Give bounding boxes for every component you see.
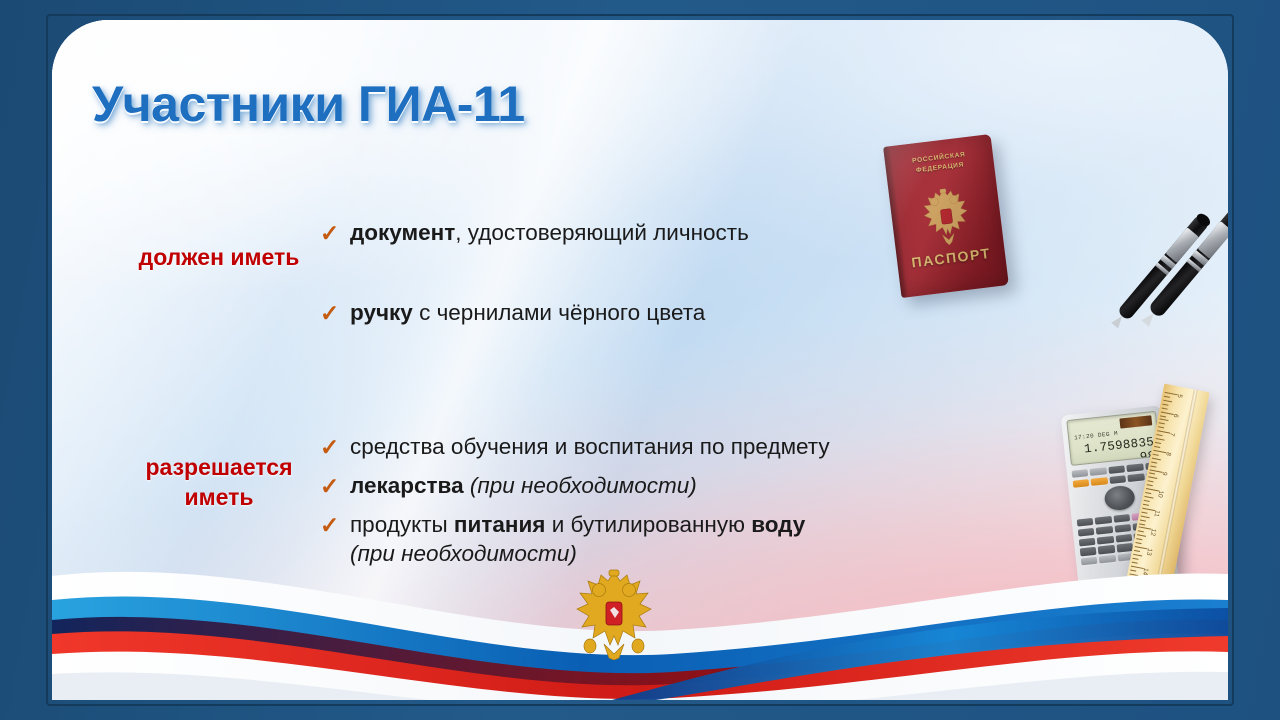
- ruler-tick: [1153, 454, 1159, 456]
- ruler-tick: [1140, 519, 1146, 521]
- ruler-tick: [1163, 400, 1172, 403]
- ruler-tick: [1147, 480, 1153, 482]
- ruler-tick: [1144, 500, 1150, 502]
- list-item-part2: и бутилированную: [545, 512, 751, 537]
- list-item-bold2: воду: [751, 512, 805, 537]
- calculator-key: [1096, 526, 1113, 535]
- ruler-tick-label: 5: [1176, 394, 1184, 399]
- calculator-key: [1128, 473, 1145, 482]
- ruler-tick: [1159, 423, 1165, 425]
- calculator-dpad: [1104, 484, 1136, 511]
- slide-canvas: Участники ГИА-11 должен иметь ✓ документ…: [52, 20, 1228, 700]
- ruler-tick-label: 7: [1168, 432, 1176, 437]
- calculator-key: [1091, 477, 1108, 486]
- ruler-tick: [1147, 484, 1153, 486]
- calculator-key: [1090, 467, 1107, 476]
- ruler-tick: [1148, 477, 1157, 480]
- check-icon: ✓: [320, 219, 350, 249]
- ruler-tick-label: 10: [1156, 490, 1164, 498]
- ruler-tick: [1162, 403, 1168, 405]
- calculator-key: [1072, 469, 1089, 478]
- calculator-key: [1079, 537, 1096, 546]
- ruler-tick: [1139, 523, 1145, 525]
- ruler-tick: [1158, 427, 1164, 429]
- ruler-tick: [1151, 461, 1157, 463]
- ruler-tick: [1141, 511, 1147, 513]
- ruler-tick: [1138, 531, 1144, 533]
- ruler-tick: [1154, 446, 1160, 448]
- ruler-tick: [1149, 473, 1155, 475]
- check-icon: ✓: [320, 433, 350, 463]
- list-item-text: ручку с чернилами чёрного цвета: [350, 298, 960, 327]
- ruler-tick: [1155, 442, 1161, 444]
- list-item-text: документ, удостоверяющий личность: [350, 218, 960, 247]
- check-icon: ✓: [320, 472, 350, 502]
- list-item-rest: с чернилами чёрного цвета: [413, 300, 706, 325]
- ruler-tick: [1141, 515, 1150, 518]
- check-icon: ✓: [320, 511, 350, 541]
- ruler-tick: [1145, 492, 1151, 494]
- ruler-tick-label: 8: [1164, 451, 1172, 456]
- calculator-key: [1095, 516, 1112, 525]
- section-label-allowed: разрешается иметь: [90, 452, 348, 513]
- section-label-allowed-line1: разрешается: [90, 452, 348, 482]
- ruler-tick: [1159, 419, 1168, 422]
- list-item-bold-lead: ручку: [350, 300, 413, 325]
- calculator-key: [1073, 479, 1090, 488]
- ruler-tick-label: 9: [1161, 471, 1169, 476]
- calculator-key: [1113, 514, 1130, 523]
- ruler-tick: [1150, 465, 1156, 467]
- list-item-bold1: питания: [454, 512, 546, 537]
- calculator-key: [1109, 475, 1126, 484]
- list-item-rest: , удостоверяющий личность: [455, 220, 749, 245]
- section-label-must-have-text: должен иметь: [139, 244, 300, 270]
- list-item: ✓ документ, удостоверяющий личность: [320, 218, 960, 248]
- pen-front: [1139, 205, 1228, 329]
- list-item-part1: продукты: [350, 512, 454, 537]
- ruler-tick: [1136, 538, 1142, 540]
- ruler-tick: [1152, 457, 1161, 460]
- ruler-tick-label: 12: [1149, 528, 1157, 536]
- calculator-key: [1078, 528, 1095, 537]
- page-title: Участники ГИА-11: [92, 75, 525, 133]
- list-item: ✓ ручку с чернилами чёрного цвета: [320, 298, 960, 328]
- ruler-tick: [1144, 496, 1153, 499]
- check-icon: ✓: [320, 299, 350, 329]
- ruler-tick: [1164, 396, 1170, 398]
- calculator-key: [1114, 524, 1131, 533]
- calculator-key: [1127, 463, 1144, 472]
- calculator-screen: 17:20 DEG M 1.7598835 98: [1066, 411, 1160, 466]
- coat-of-arms-icon: [572, 568, 656, 660]
- ruler-tick: [1137, 534, 1146, 537]
- ruler-tick-label: 11: [1152, 509, 1160, 517]
- list-item: ✓ средства обучения и воспитания по пред…: [320, 432, 1020, 462]
- calculator-key: [1108, 465, 1125, 474]
- list-item-text: средства обучения и воспитания по предме…: [350, 432, 1020, 461]
- list-item-italic-note: (при необходимости): [464, 473, 697, 498]
- ruler-tick: [1162, 407, 1168, 409]
- section-label-must-have: должен иметь: [90, 242, 348, 272]
- ruler-tick: [1160, 415, 1166, 417]
- ruler-tick: [1156, 434, 1162, 436]
- section-label-allowed-line2: иметь: [90, 482, 348, 512]
- ruler-tick: [1143, 504, 1149, 506]
- ruler-tick-label: 6: [1172, 413, 1180, 418]
- list-item: ✓ лекарства (при необходимости): [320, 471, 1020, 501]
- pens-image: [1072, 195, 1228, 345]
- calculator-key: [1116, 534, 1133, 543]
- list-item-bold-lead: документ: [350, 220, 455, 245]
- calculator-key: [1077, 518, 1094, 527]
- slide-frame: Участники ГИА-11 должен иметь ✓ документ…: [0, 0, 1280, 720]
- calculator-key: [1097, 535, 1114, 544]
- ruler-tick: [1156, 438, 1165, 441]
- list-item-text: лекарства (при необходимости): [350, 471, 1020, 500]
- ruler-tick: [1135, 542, 1141, 544]
- list-item-bold-lead: лекарства: [350, 473, 464, 498]
- bullet-list-must-have: ✓ документ, удостоверяющий личность ✓ ру…: [320, 218, 960, 378]
- solar-panel: [1119, 415, 1152, 428]
